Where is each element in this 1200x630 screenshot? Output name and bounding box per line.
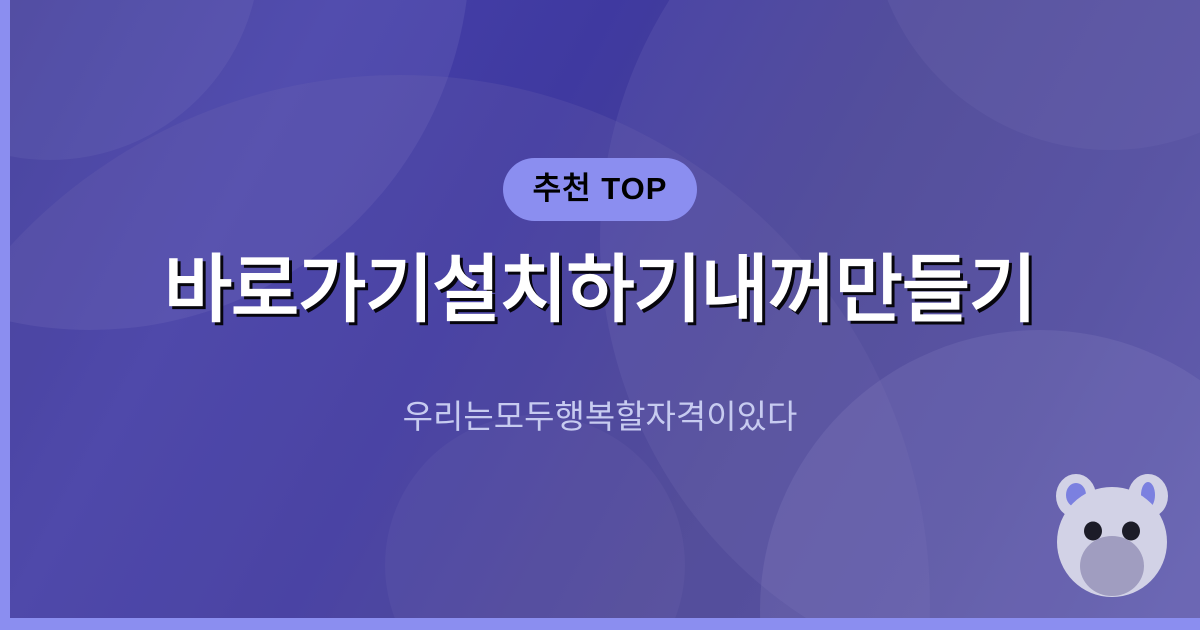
page-title: 바로가기설치하기내꺼만들기 — [164, 253, 1036, 327]
page-subtitle: 우리는모두행복할자격이있다 — [403, 399, 798, 435]
recommendation-badge: 추천 TOP — [503, 158, 698, 221]
card-content: 추천 TOP 바로가기설치하기내꺼만들기 우리는모두행복할자격이있다 — [0, 0, 1200, 630]
bear-mascot-icon — [1042, 466, 1182, 606]
thumbnail-card: 추천 TOP 바로가기설치하기내꺼만들기 우리는모두행복할자격이있다 — [0, 0, 1200, 630]
